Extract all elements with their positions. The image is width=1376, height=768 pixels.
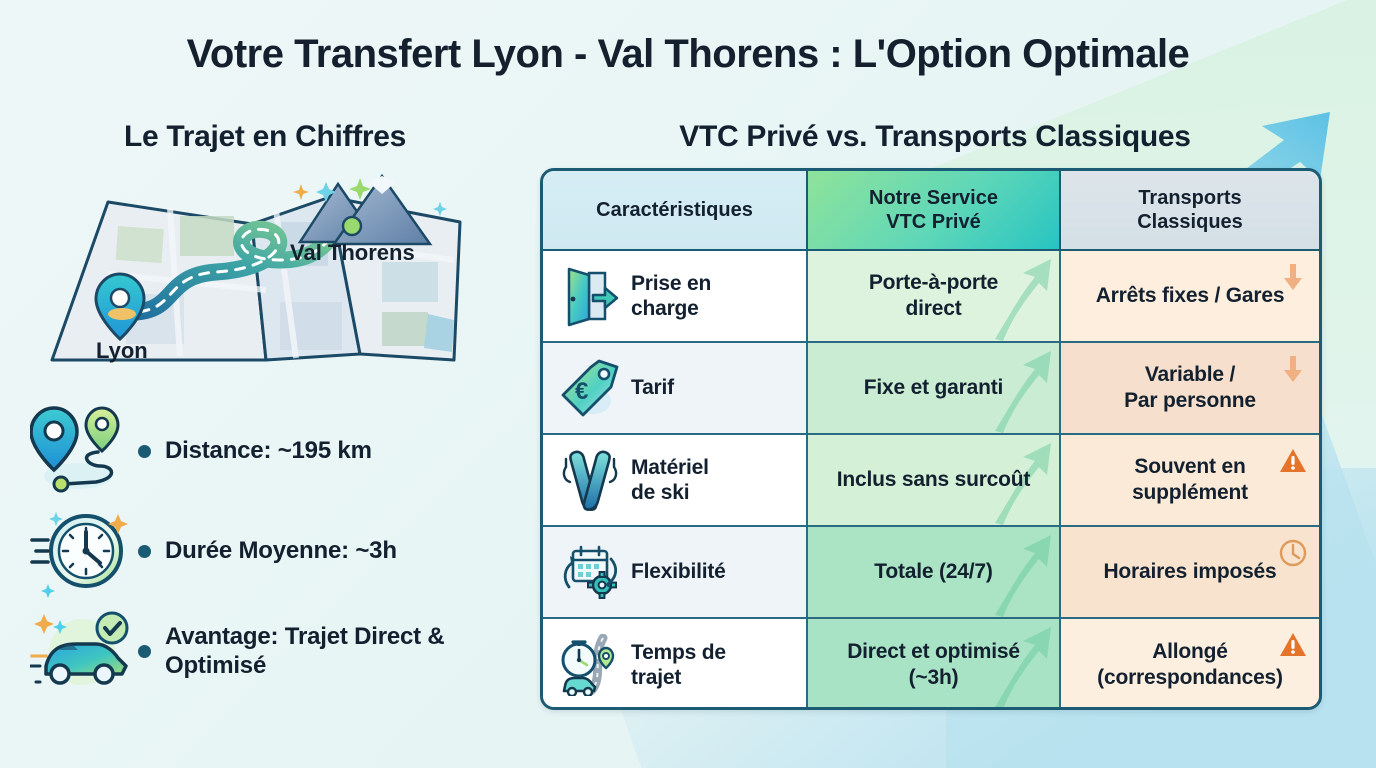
feature-label: Prise en charge	[631, 271, 711, 321]
feature-cell: Temps de trajet	[543, 619, 806, 710]
stat-label: Distance: ~195 km	[165, 436, 372, 465]
table-row: Prise en charge Porte-à-porte direct	[543, 251, 1319, 343]
column-header-features: Caractéristiques	[543, 171, 806, 251]
feature-cell: Flexibilité	[543, 527, 806, 619]
classic-cell: Horaires imposés	[1061, 527, 1319, 619]
classic-cell: Variable / Par personne	[1061, 343, 1319, 435]
bullet-dot	[138, 445, 151, 458]
classic-value: Arrêts fixes / Gares	[1096, 283, 1285, 309]
car-check-icon	[30, 604, 134, 698]
classic-value: Variable / Par personne	[1124, 362, 1256, 415]
route-pins-icon	[30, 404, 134, 498]
list-item: Durée Moyenne: ~3h	[30, 501, 510, 601]
page-title: Votre Transfert Lyon - Val Thorens : L'O…	[0, 32, 1376, 77]
clock-outline-icon	[1279, 539, 1307, 567]
classic-cell: Souvent en supplément	[1061, 435, 1319, 527]
column-header-vtc: Notre Service VTC Privé	[806, 171, 1061, 251]
price-tag-euro-icon: €	[559, 357, 621, 419]
stopwatch-road-icon	[559, 634, 621, 696]
warning-icon	[1279, 631, 1307, 659]
table-row: Temps de trajet Direct et optimisé (~3h)	[543, 619, 1319, 710]
vtc-value: Porte-à-porte direct	[869, 270, 998, 323]
feature-label: Matériel de ski	[631, 455, 709, 505]
down-arrow-icon	[1279, 355, 1307, 383]
feature-label: Flexibilité	[631, 559, 726, 584]
column-header-classic: Transports Classiques	[1061, 171, 1319, 251]
door-exit-icon	[559, 265, 621, 327]
vtc-value: Direct et optimisé (~3h)	[847, 639, 1020, 692]
feature-label: Temps de trajet	[631, 640, 726, 690]
route-map-illustration: Lyon Val Thorens	[30, 164, 500, 379]
vtc-value: Fixe et garanti	[864, 375, 1003, 401]
svg-text:€: €	[575, 378, 588, 405]
feature-cell: € Tarif	[543, 343, 806, 435]
stats-list: Distance: ~195 km	[30, 401, 510, 701]
right-panel: VTC Privé vs. Transports Classiques Cara…	[540, 120, 1340, 710]
list-item: Avantage: Trajet Direct & Optimisé	[30, 601, 510, 701]
stat-label: Durée Moyenne: ~3h	[165, 536, 397, 565]
vtc-cell: Fixe et garanti	[806, 343, 1061, 435]
calendar-gear-icon	[559, 541, 621, 603]
vtc-value: Inclus sans surcoût	[837, 467, 1030, 493]
bullet-dot	[138, 545, 151, 558]
vtc-value: Totale (24/7)	[874, 559, 992, 585]
vtc-cell: Totale (24/7)	[806, 527, 1061, 619]
feature-label: Tarif	[631, 375, 674, 400]
classic-cell: Arrêts fixes / Gares	[1061, 251, 1319, 343]
table-header-row: Caractéristiques Notre Service VTC Privé…	[543, 171, 1319, 251]
table-row: Flexibilité Totale (24/7)	[543, 527, 1319, 619]
clock-icon	[30, 504, 134, 598]
vtc-cell: Inclus sans surcoût	[806, 435, 1061, 527]
comparison-table: Caractéristiques Notre Service VTC Privé…	[540, 168, 1322, 710]
feature-cell: Prise en charge	[543, 251, 806, 343]
classic-value: Horaires imposés	[1103, 559, 1276, 585]
table-row: € Tarif Fixe et garanti	[543, 343, 1319, 435]
right-heading: VTC Privé vs. Transports Classiques	[540, 120, 1330, 154]
feature-cell: Matériel de ski	[543, 435, 806, 527]
vtc-cell: Direct et optimisé (~3h)	[806, 619, 1061, 710]
classic-value: Souvent en supplément	[1132, 454, 1248, 507]
warning-icon	[1279, 447, 1307, 475]
classic-value: Allongé (correspondances)	[1097, 639, 1283, 692]
infographic-canvas: Votre Transfert Lyon - Val Thorens : L'O…	[0, 0, 1376, 768]
down-arrow-icon	[1279, 263, 1307, 291]
up-trend-arrow-icon	[989, 257, 1055, 341]
stat-label: Avantage: Trajet Direct & Optimisé	[165, 622, 510, 681]
left-heading: Le Trajet en Chiffres	[30, 120, 500, 154]
up-trend-arrow-icon	[989, 533, 1055, 617]
vtc-cell: Porte-à-porte direct	[806, 251, 1061, 343]
skis-icon	[559, 449, 621, 511]
table-row: Matériel de ski Inclus sans surcoût	[543, 435, 1319, 527]
map-origin-label: Lyon	[96, 338, 148, 363]
left-panel: Le Trajet en Chiffres	[30, 120, 530, 701]
bullet-dot	[138, 645, 151, 658]
map-destination-label: Val Thorens	[290, 240, 415, 265]
classic-cell: Allongé (correspondances)	[1061, 619, 1319, 710]
list-item: Distance: ~195 km	[30, 401, 510, 501]
